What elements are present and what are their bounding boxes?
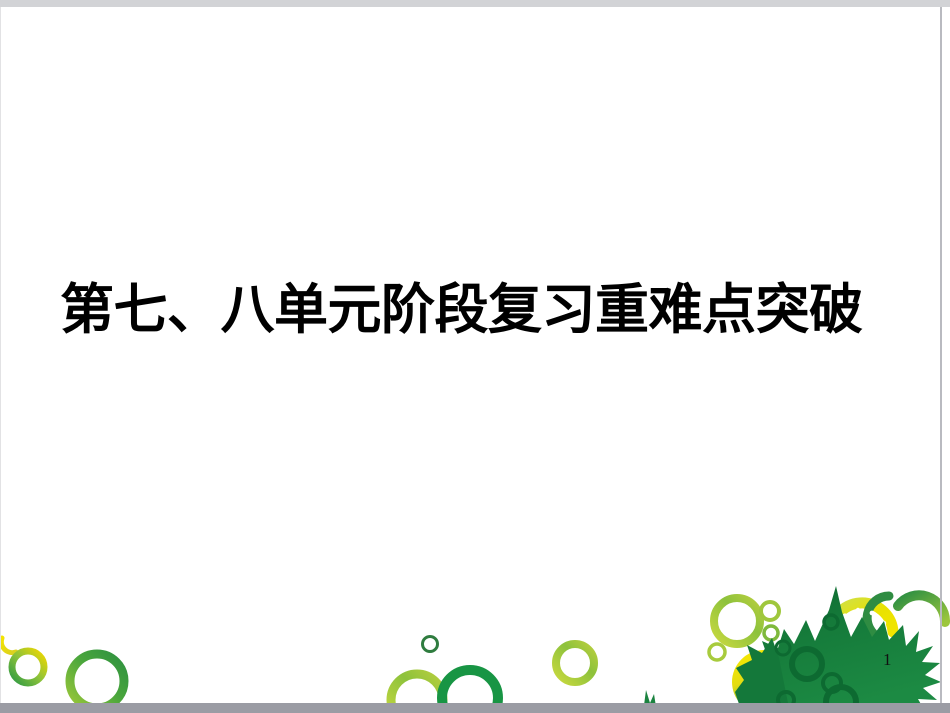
- presentation-slide: 第七、八单元阶段复习重难点突破 1: [0, 0, 950, 713]
- page-title: 第七、八单元阶段复习重难点突破: [60, 281, 863, 338]
- slide-right-border: [940, 7, 942, 703]
- slide-top-border: [0, 0, 950, 7]
- page-number: 1: [883, 650, 892, 670]
- title-block[interactable]: 第七、八单元阶段复习重难点突破: [60, 274, 890, 344]
- slide-left-border: [0, 7, 1, 703]
- slide-canvas: [1, 7, 940, 703]
- slide-bottom-border: [0, 703, 950, 713]
